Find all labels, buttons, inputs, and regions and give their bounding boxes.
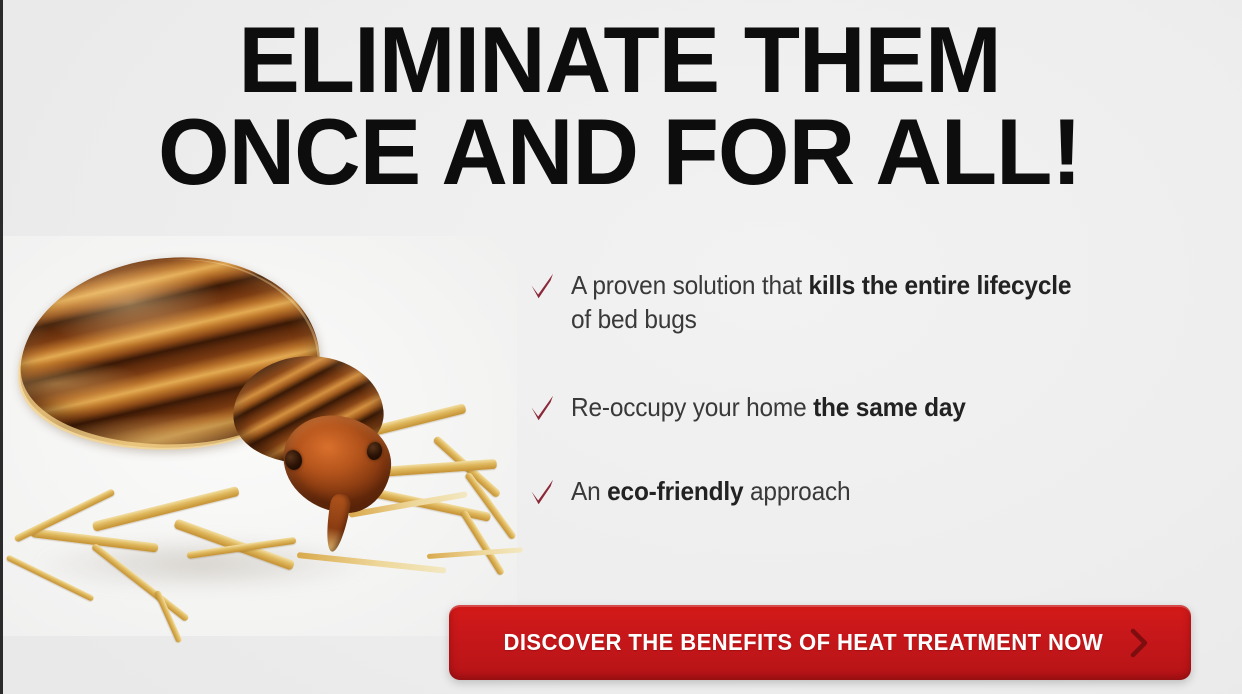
benefit-text: A proven solution that kills the entire … bbox=[571, 268, 1071, 337]
chevron-right-icon bbox=[1129, 628, 1149, 658]
check-icon bbox=[529, 271, 555, 301]
benefit-text-before: Re-occupy your home bbox=[571, 392, 813, 422]
list-item: A proven solution that kills the entire … bbox=[529, 268, 1219, 337]
benefit-text-before: An bbox=[571, 476, 607, 506]
benefit-text-after: approach bbox=[743, 476, 850, 506]
benefit-text-before: A proven solution that bbox=[571, 270, 809, 300]
headline-line-2: ONCE AND FOR ALL! bbox=[15, 106, 1229, 198]
headline-line-1: ELIMINATE THEM bbox=[15, 14, 1229, 106]
check-icon bbox=[529, 477, 555, 507]
list-item: Re-occupy your home the same day bbox=[529, 390, 1219, 424]
benefit-text-bold: eco-friendly bbox=[607, 476, 743, 506]
benefit-text: An eco-friendly approach bbox=[571, 474, 850, 508]
benefit-text: Re-occupy your home the same day bbox=[571, 390, 966, 424]
bug-contact-shadow bbox=[37, 536, 367, 592]
cta-label: DISCOVER THE BENEFITS OF HEAT TREATMENT … bbox=[503, 629, 1103, 656]
list-item: An eco-friendly approach bbox=[529, 474, 1219, 508]
bed-bug-heat-treatment-ad-banner: ELIMINATE THEM ONCE AND FOR ALL! bbox=[0, 0, 1242, 694]
benefit-text-bold: kills the entire lifecycle bbox=[809, 270, 1072, 300]
headline: ELIMINATE THEM ONCE AND FOR ALL! bbox=[15, 14, 1229, 198]
benefit-text-bold: the same day bbox=[813, 392, 966, 422]
check-icon bbox=[529, 393, 555, 423]
benefit-text-after: of bed bugs bbox=[571, 304, 697, 334]
discover-benefits-cta-button[interactable]: DISCOVER THE BENEFITS OF HEAT TREATMENT … bbox=[449, 605, 1191, 680]
bed-bug-photo bbox=[0, 236, 517, 636]
benefits-list: A proven solution that kills the entire … bbox=[529, 268, 1219, 508]
